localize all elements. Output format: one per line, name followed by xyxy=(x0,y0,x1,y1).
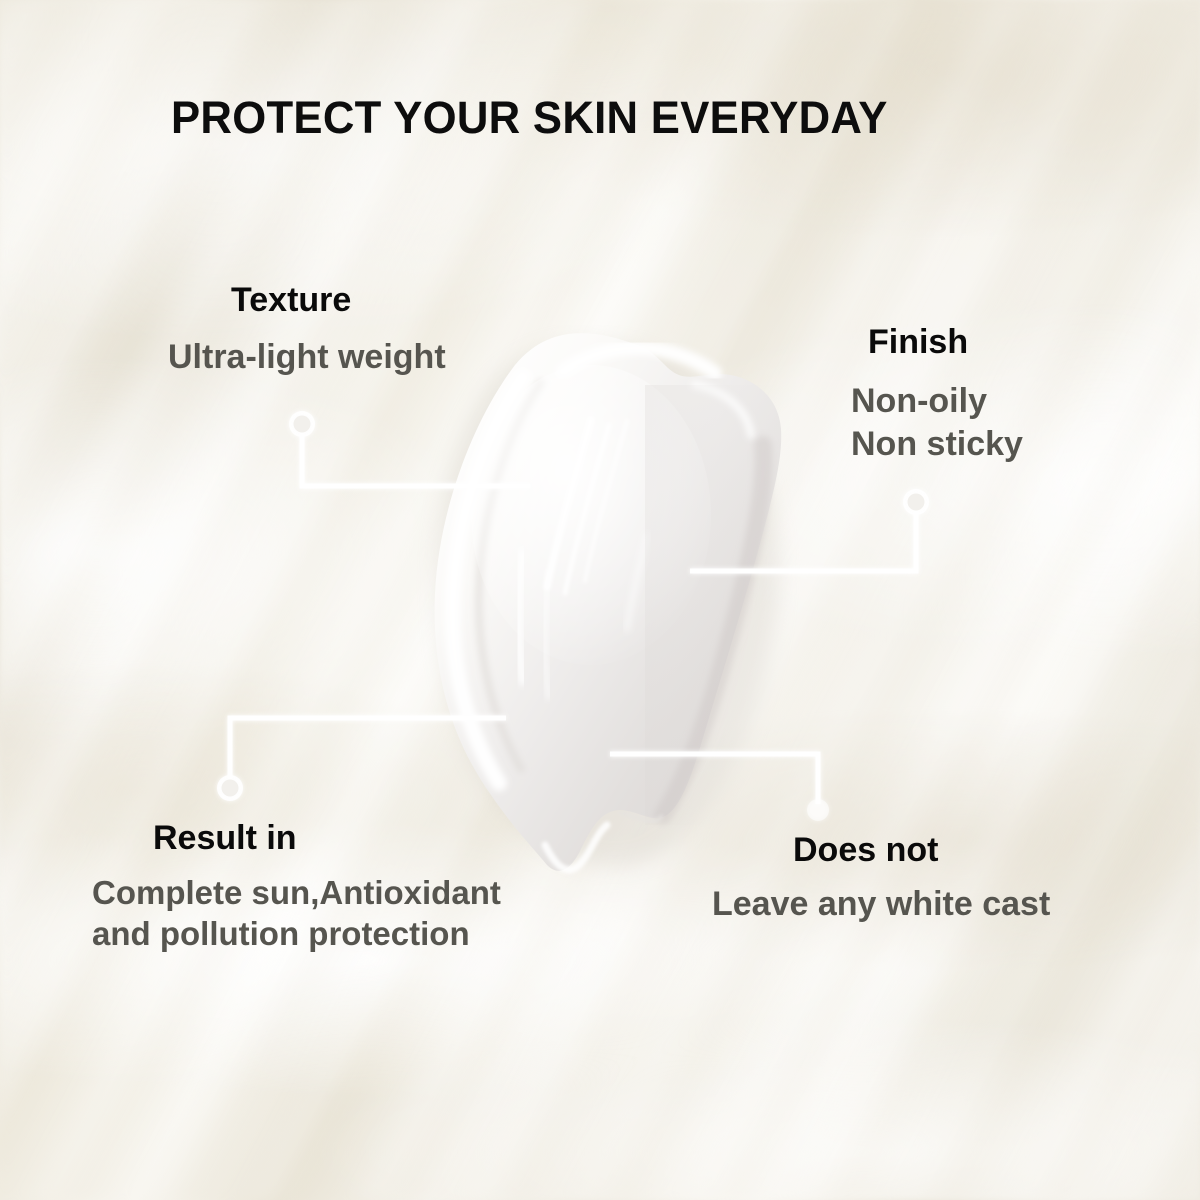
callout-finish-value-line-2: Non sticky xyxy=(851,423,1023,466)
callout-finish-label: Finish xyxy=(868,325,1023,361)
product-infographic: PROTECT YOUR SKIN EVERYDAY Texture Ultra… xyxy=(0,0,1200,1200)
callout-result-label: Result in xyxy=(153,821,501,857)
cream-right-tone xyxy=(645,385,825,825)
callout-finish: Finish Non-oily Non sticky xyxy=(851,325,1023,465)
callout-result-value-line-2: and pollution protection xyxy=(92,913,501,955)
callout-texture-label: Texture xyxy=(231,283,446,319)
callout-finish-value-line-1: Non-oily xyxy=(851,380,1023,423)
callout-does-not: Does not Leave any white cast xyxy=(712,833,1050,926)
callout-result-value-line-1: Complete sun,Antioxidant xyxy=(92,872,501,914)
callout-result: Result in Complete sun,Antioxidant and p… xyxy=(92,821,501,955)
cream-streak-4 xyxy=(519,553,524,681)
page-title: PROTECT YOUR SKIN EVERYDAY xyxy=(171,92,888,144)
cream-swatch-svg xyxy=(395,325,825,885)
callout-does-not-value-line-1: Leave any white cast xyxy=(712,883,1050,926)
cream-swatch-image xyxy=(395,325,825,885)
callout-texture: Texture Ultra-light weight xyxy=(168,283,446,379)
callout-texture-value-line-1: Ultra-light weight xyxy=(168,336,446,379)
callout-does-not-label: Does not xyxy=(793,833,1050,869)
